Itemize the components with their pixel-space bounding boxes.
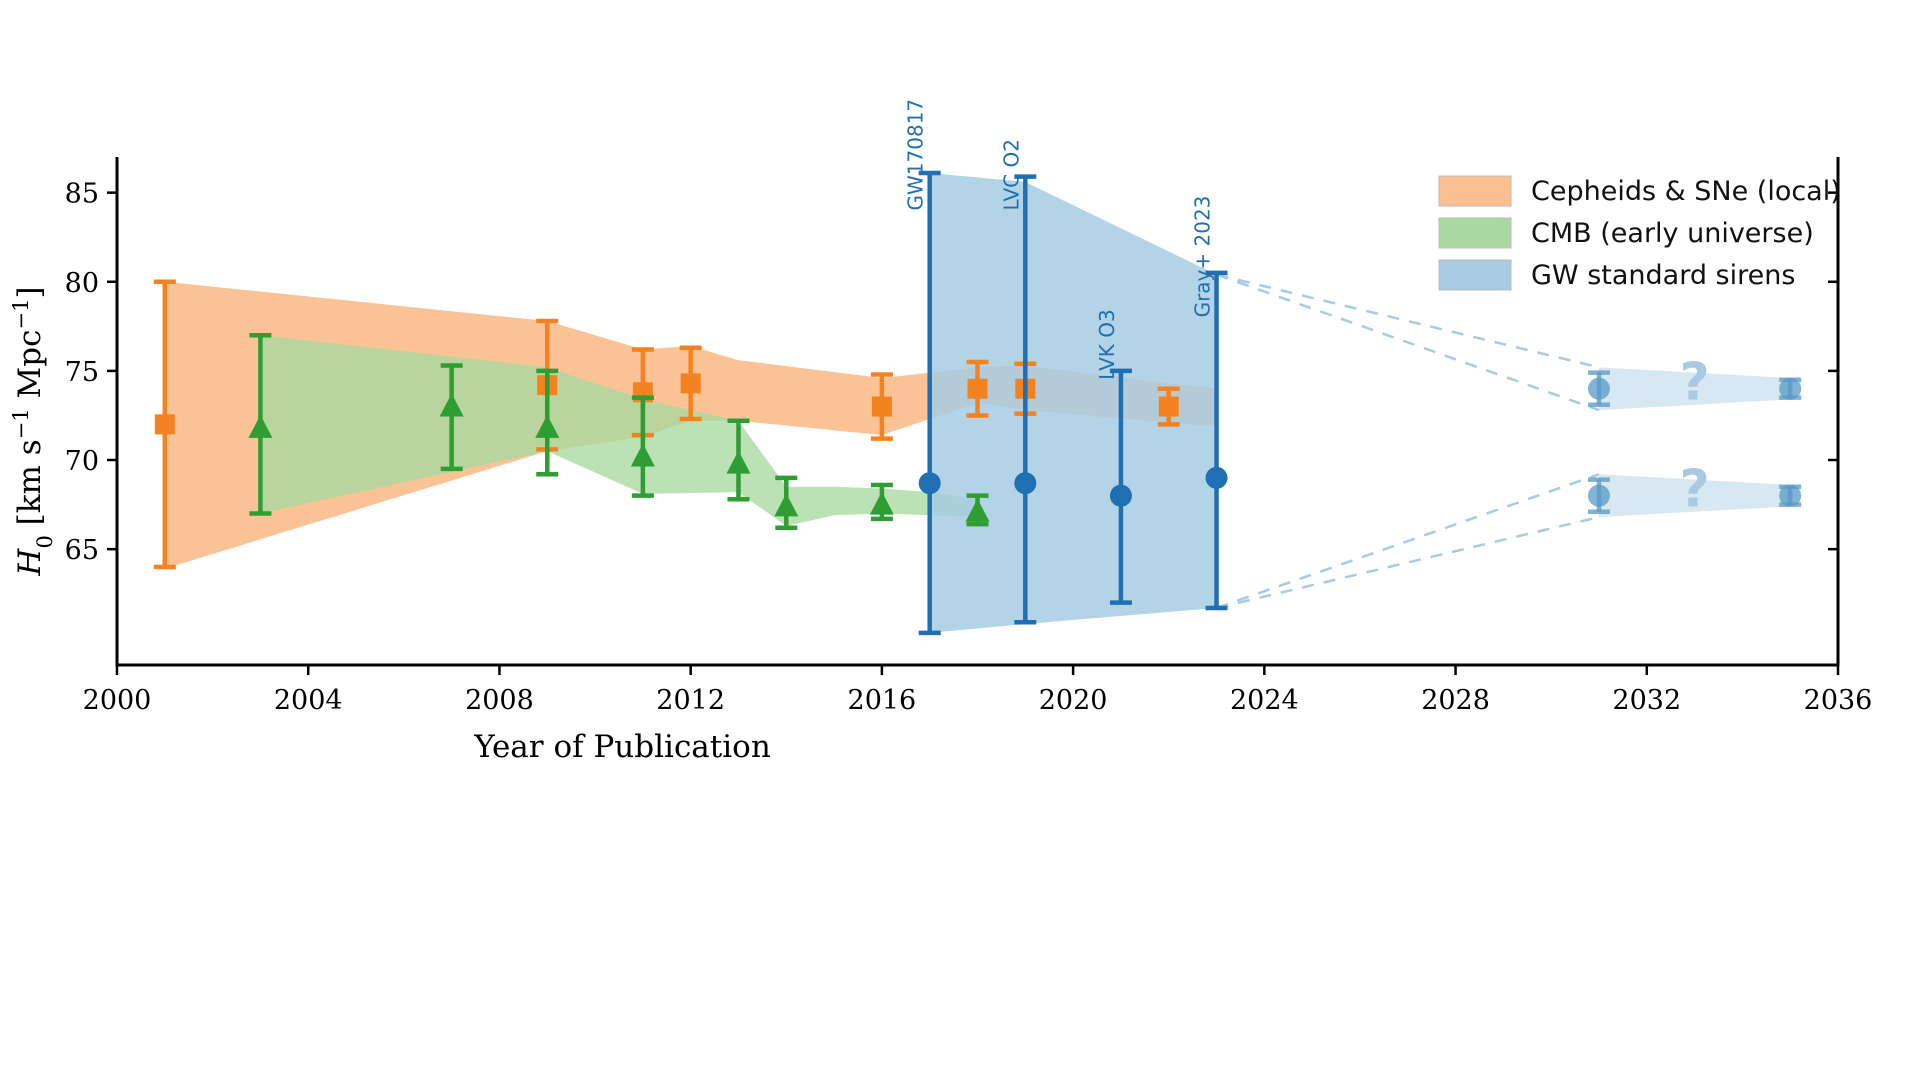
x-tick-label: 2028: [1421, 685, 1490, 716]
marker-circle: [1779, 485, 1801, 507]
x-tick-label: 2020: [1039, 685, 1108, 716]
y-tick-label: 70: [65, 446, 99, 477]
x-tick-label: 2036: [1804, 685, 1873, 716]
marker-circle: [1588, 485, 1610, 507]
legend-swatch: [1439, 218, 1511, 248]
annotation-label: LVK O3: [1095, 309, 1119, 380]
question-mark-glyph: ?: [1679, 352, 1709, 412]
projection-dashed-line: [1217, 275, 1599, 410]
hubble-tension-chart: ??GW170817LVC O2LVK O3Gray+ 202320002004…: [0, 0, 1920, 1080]
x-tick-label: 2032: [1612, 685, 1681, 716]
projection-point: [1779, 485, 1801, 507]
legend-label: Cepheids & SNe (local): [1531, 176, 1841, 207]
legend-swatch: [1439, 176, 1511, 206]
annotation-label: GW170817: [904, 99, 928, 211]
marker-circle: [1014, 472, 1036, 494]
marker-square: [155, 414, 175, 434]
legend-label: CMB (early universe): [1531, 218, 1814, 249]
y-axis-title: H0 [km s−1 Mpc−1]: [9, 286, 57, 576]
x-tick-label: 2004: [274, 685, 343, 716]
annotation-label: LVC O2: [999, 139, 1023, 210]
projection-dashed-line: [1217, 474, 1599, 608]
marker-square: [1159, 397, 1179, 417]
question-mark-glyph: ?: [1679, 459, 1709, 519]
x-tick-label: 2008: [465, 685, 534, 716]
marker-circle: [1779, 378, 1801, 400]
annotation-label: Gray+ 2023: [1191, 196, 1215, 318]
figure-canvas: ??GW170817LVC O2LVK O3Gray+ 202320002004…: [0, 0, 1920, 1080]
projection-point: [1779, 378, 1801, 400]
marker-circle: [1110, 485, 1132, 507]
marker-square: [681, 373, 701, 393]
marker-circle: [919, 472, 941, 494]
marker-square: [872, 397, 892, 417]
legend-swatch: [1439, 260, 1511, 290]
projection-dashed-line: [1217, 517, 1599, 608]
y-tick-label: 85: [65, 179, 99, 210]
legend-label: GW standard sirens: [1531, 260, 1795, 291]
x-axis-title: Year of Publication: [473, 729, 771, 765]
x-tick-label: 2000: [83, 685, 152, 716]
x-tick-label: 2024: [1230, 685, 1299, 716]
marker-circle: [1588, 378, 1610, 400]
marker-square: [968, 379, 988, 399]
y-tick-label: 80: [65, 268, 99, 299]
marker-circle: [1206, 467, 1228, 489]
legend: Cepheids & SNe (local)CMB (early univers…: [1439, 176, 1841, 291]
x-tick-label: 2012: [656, 685, 725, 716]
x-tick-label: 2016: [848, 685, 917, 716]
y-tick-label: 65: [65, 535, 99, 566]
y-tick-label: 75: [65, 357, 99, 388]
